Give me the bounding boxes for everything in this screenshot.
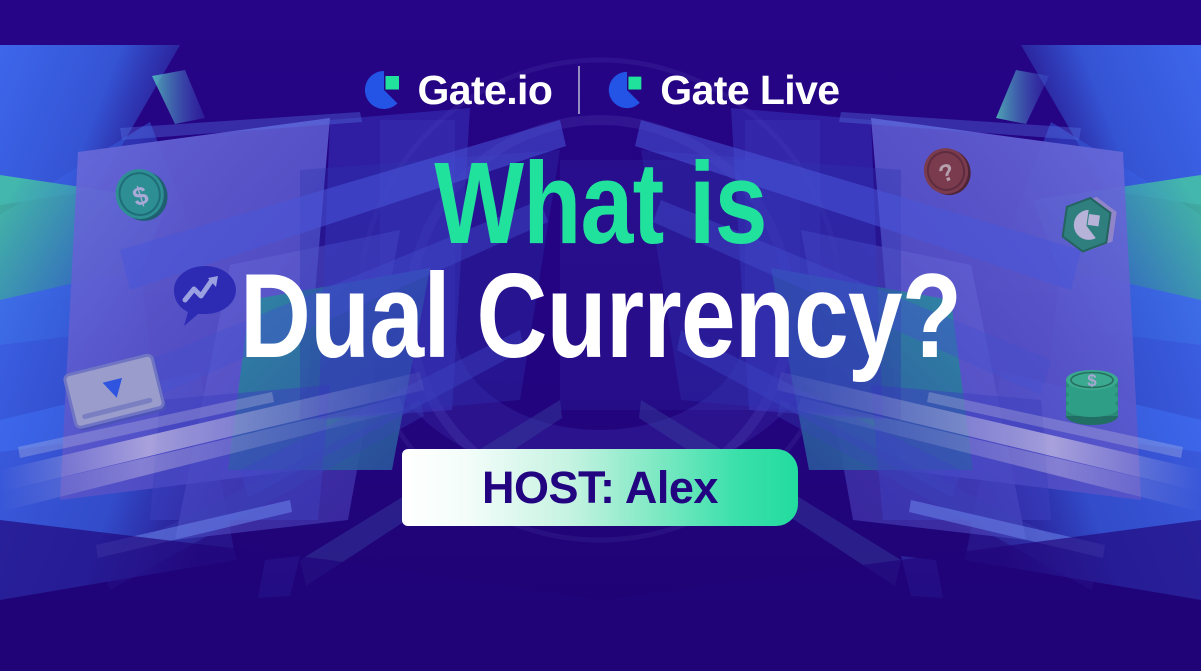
headline: What is Dual Currency? [0,150,1201,371]
gate-logo-mark-icon [362,68,406,112]
host-badge: HOST: Alex [402,449,798,526]
gate-live-promo-banner: $ ? [0,0,1201,671]
brand-gatelive-label: Gate Live [660,70,839,111]
headline-line-1: What is [108,150,1093,257]
brand-header: Gate.io Gate Live [0,66,1201,114]
brand-divider [578,66,580,114]
brand-gateio-label: Gate.io [418,70,553,111]
host-badge-label: HOST: Alex [482,465,718,510]
brand-gatelive[interactable]: Gate Live [606,69,839,111]
svg-text:$: $ [1087,371,1097,390]
host-badge-wrapper: HOST: Alex [402,449,798,526]
headline-line-2: Dual Currency? [108,261,1093,371]
gate-logo-mark-icon [606,69,648,111]
brand-gateio[interactable]: Gate.io [362,68,553,112]
